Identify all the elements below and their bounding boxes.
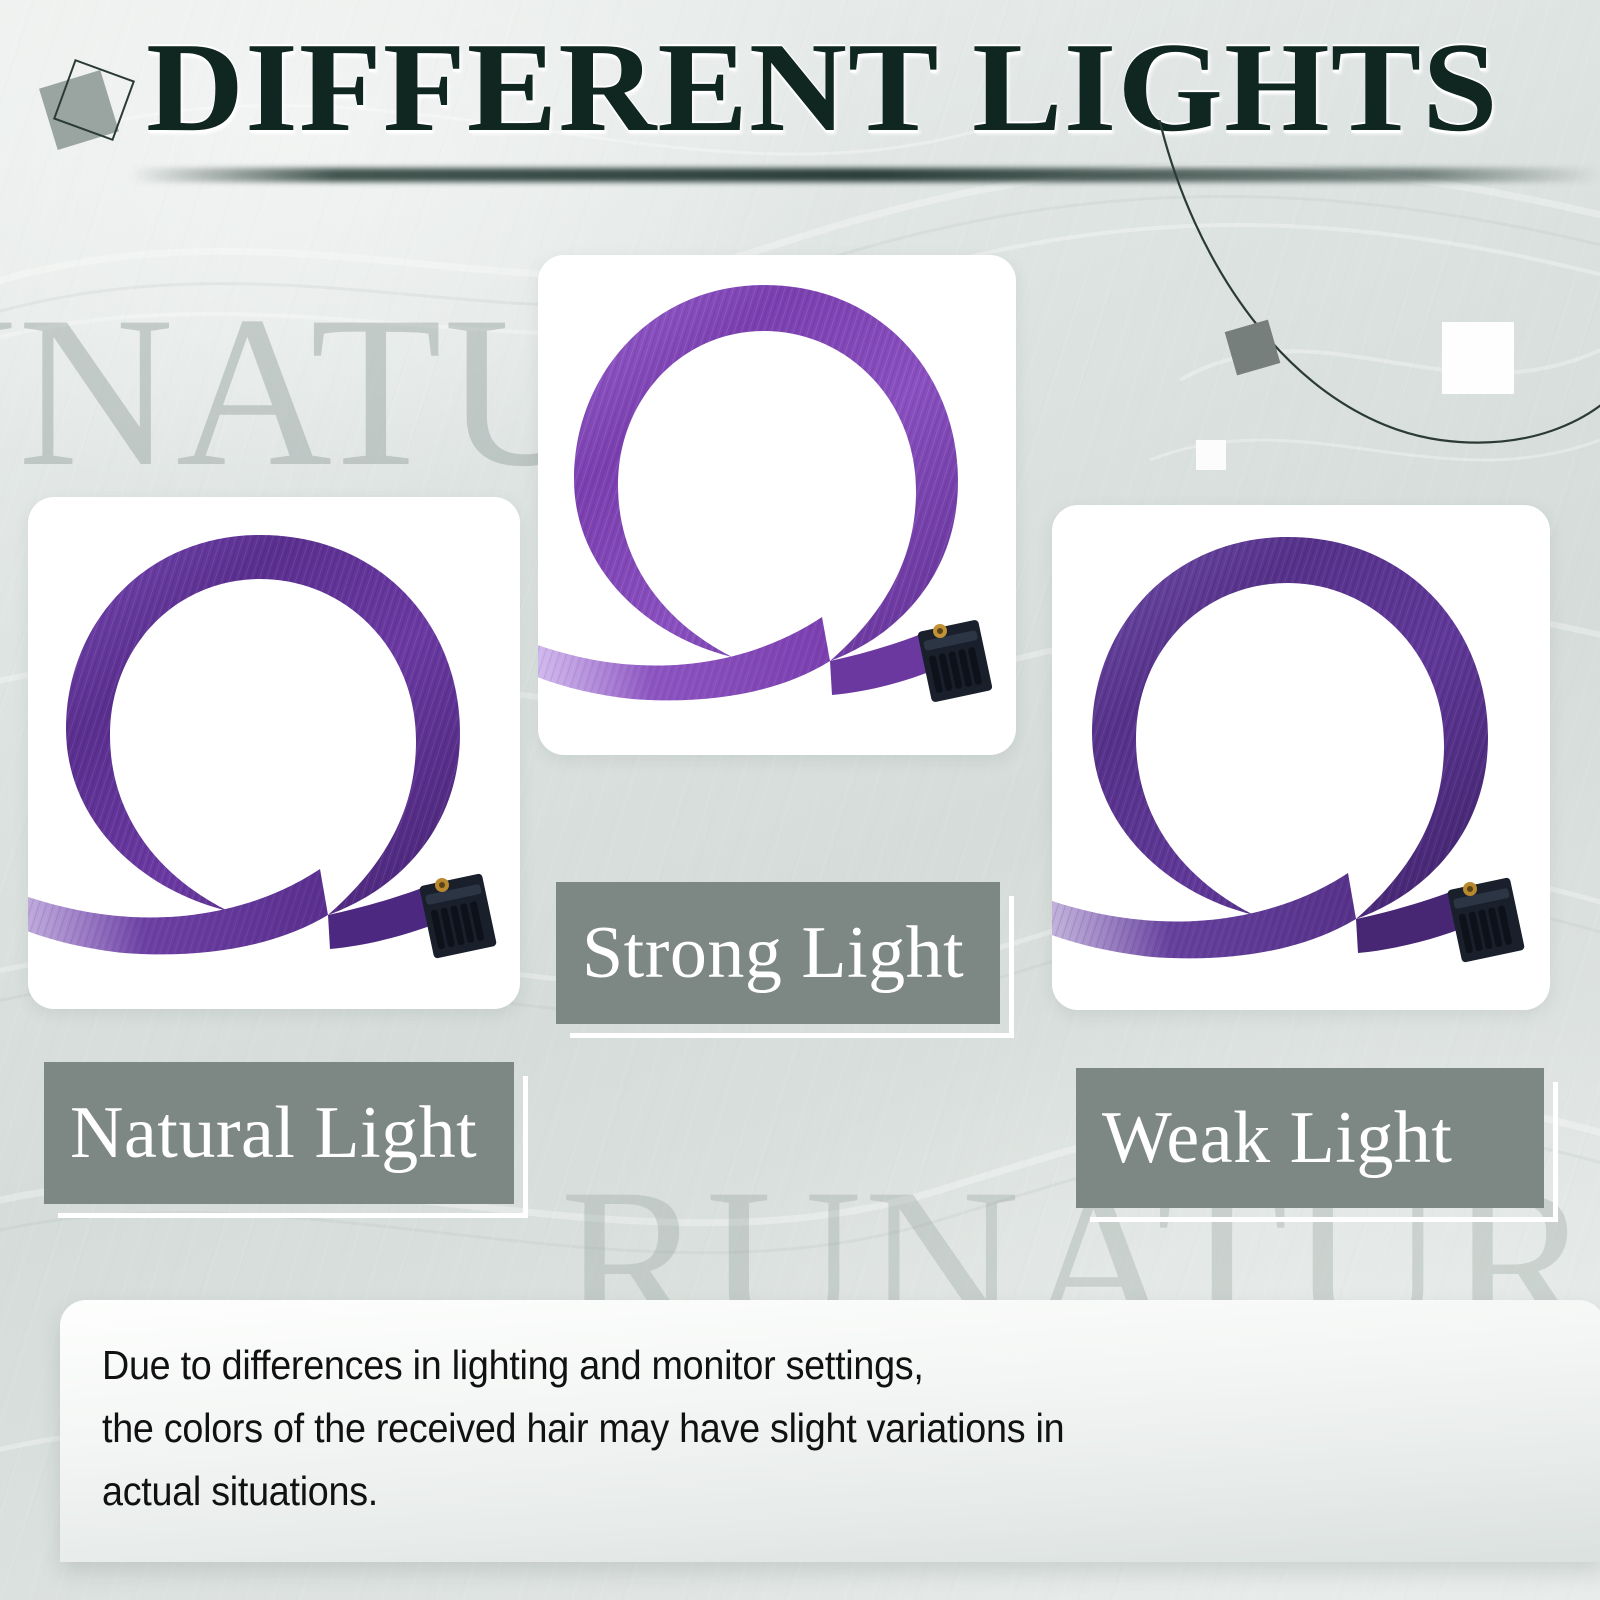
label-text-strong-light: Strong Light — [556, 916, 964, 990]
product-card-strong-light[interactable] — [538, 255, 1016, 755]
hair-clip-hardware — [419, 873, 497, 959]
hair-clip-hardware — [1447, 877, 1525, 963]
label-plate-strong-light: Strong Light — [556, 882, 1000, 1024]
hair-extension-image-strong — [538, 255, 1016, 755]
product-card-natural-light[interactable] — [28, 497, 520, 1009]
hair-extension-image-weak — [1052, 505, 1550, 1010]
infographic-canvas: UNATURE RUNATURE DIFFERENT LIGHTS — [0, 0, 1600, 1600]
product-card-weak-light[interactable] — [1052, 505, 1550, 1010]
label-box-strong: Strong Light — [556, 882, 1000, 1024]
label-text-natural-light: Natural Light — [44, 1096, 477, 1170]
label-box-weak: Weak Light — [1076, 1068, 1544, 1208]
hair-extension-image-natural — [28, 497, 520, 1009]
label-box-natural: Natural Light — [44, 1062, 514, 1204]
hair-clip-hardware — [917, 619, 993, 702]
label-plate-weak-light: Weak Light — [1076, 1068, 1544, 1208]
decorative-arc-icon — [1100, 120, 1600, 540]
disclaimer-panel: Due to differences in lighting and monit… — [60, 1300, 1600, 1562]
disclaimer-text: Due to differences in lighting and monit… — [102, 1334, 1408, 1523]
decorative-square-white-large-icon — [1442, 322, 1514, 394]
label-text-weak-light: Weak Light — [1076, 1101, 1452, 1175]
label-plate-natural-light: Natural Light — [44, 1062, 514, 1204]
decorative-square-white-small-icon — [1196, 440, 1226, 470]
